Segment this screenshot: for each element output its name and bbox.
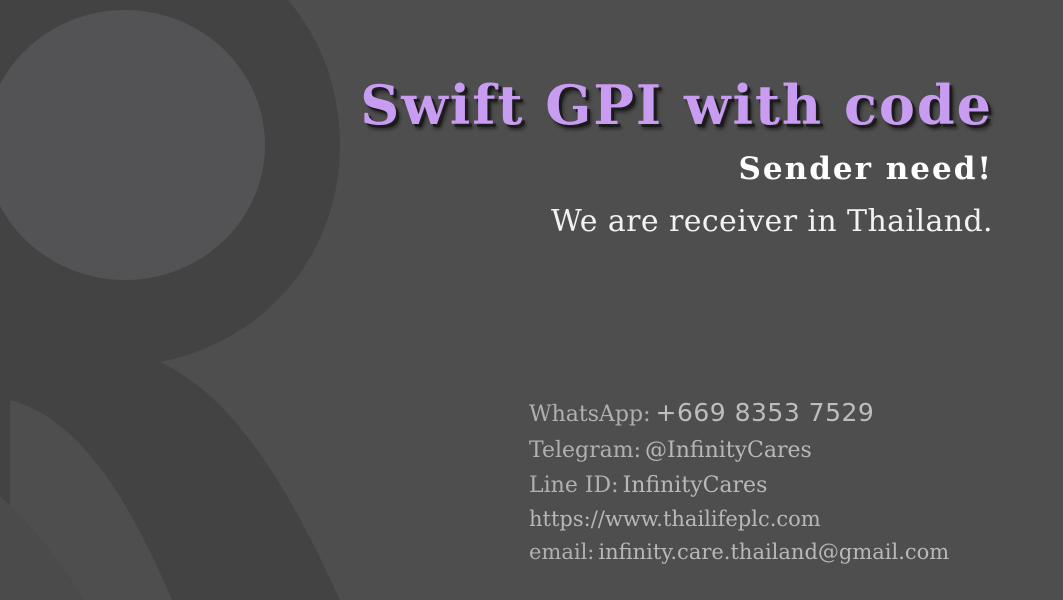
website-url[interactable]: https://www.thailifeplc.com xyxy=(529,507,821,531)
contact-website: https://www.thailifeplc.com xyxy=(529,509,999,542)
telegram-handle[interactable]: @InfinityCares xyxy=(645,438,812,463)
contact-telegram: Telegram:@InfinityCares xyxy=(529,440,999,475)
email-address[interactable]: infinity.care.thailand@gmail.com xyxy=(598,540,949,564)
contact-whatsapp: WhatsApp:+669 8353 7529 xyxy=(529,400,999,440)
headline-block: Swift GPI with code Sender need! We are … xyxy=(0,0,1063,237)
subtitle: Sender need! xyxy=(0,132,993,185)
contact-block: WhatsApp:+669 8353 7529 Telegram:@Infini… xyxy=(529,400,999,563)
telegram-label: Telegram: xyxy=(529,438,641,463)
tagline: We are receiver in Thailand. xyxy=(0,185,993,237)
line-id-label: Line ID: xyxy=(529,473,619,498)
slide-canvas: Swift GPI with code Sender need! We are … xyxy=(0,0,1063,600)
contact-email: email:infinity.care.thailand@gmail.com xyxy=(529,542,999,563)
letter-r-accent xyxy=(0,445,120,600)
page-title: Swift GPI with code xyxy=(0,0,993,132)
contact-line-id: Line ID:InfinityCares xyxy=(529,475,999,509)
whatsapp-label: WhatsApp: xyxy=(529,402,651,427)
email-label: email: xyxy=(529,540,594,564)
line-id-value[interactable]: InfinityCares xyxy=(623,473,768,498)
whatsapp-number[interactable]: +669 8353 7529 xyxy=(656,398,875,427)
